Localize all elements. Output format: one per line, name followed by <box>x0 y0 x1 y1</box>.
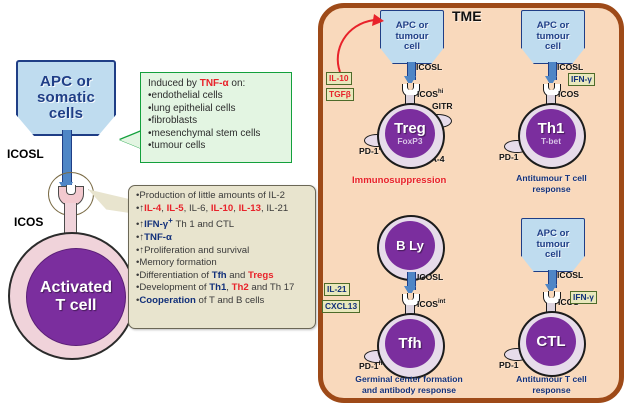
activated-tcell-nucleus: Activated T cell <box>26 248 126 346</box>
icosl-label-ctl: ICOSL <box>557 270 583 280</box>
tfh-caption: Germinal center formation and antibody r… <box>333 374 485 396</box>
tme-title: TME <box>452 8 482 24</box>
apc-tumour-label-ctl: APC or tumour cell <box>536 229 569 261</box>
bly-cell-name: B Ly <box>396 238 424 253</box>
diagram-root: APC or somatic cells ICOSL ICOS Activate… <box>0 0 628 408</box>
immunosuppression-label: Immunosuppression <box>352 175 446 186</box>
gitr-label: GITR <box>432 101 453 111</box>
beige-item-3: •↑TNF-α <box>136 232 310 245</box>
green-item-3: •mesenchymal stem cells <box>148 128 285 140</box>
apc-th1-line-2: tumour <box>536 31 569 42</box>
beige-callout-box: •Production of little amounts of IL-2 •↑… <box>128 185 316 329</box>
apc-treg-line-1: APC or <box>396 20 429 31</box>
apc-line-1: APC or <box>40 73 92 90</box>
treg-cell-sub: FoxP3 <box>397 137 422 146</box>
cytokine-tgfb: TGFβ <box>326 88 354 101</box>
ctl-caption: Antitumour T cell response <box>494 374 609 396</box>
icosl-label-tfh: ICOSL <box>417 272 443 282</box>
cytokine-il21: IL-21 <box>324 283 350 296</box>
icos-label-left: ICOS <box>14 215 43 229</box>
th1-cell-sub: T-bet <box>541 137 561 146</box>
green-item-2: •fibroblasts <box>148 115 285 127</box>
apc-ctl-line-3: cell <box>545 249 561 260</box>
activated-tcell-line-1: Activated <box>40 279 112 296</box>
icos-label-treg-text: ICOS <box>417 89 438 99</box>
beige-item-7: •Development of Th1, Th2 and Th 17 <box>136 282 310 295</box>
icos-label-treg-sup: hi <box>438 89 443 95</box>
ctl-caption-line-2: response <box>532 385 570 395</box>
tfh-caption-line-1: Germinal center formation <box>355 374 462 384</box>
beige-callout-list: •Production of little amounts of IL-2 •↑… <box>129 186 315 308</box>
green-item-0: •endothelial cells <box>148 90 285 102</box>
icos-label-tfh-text: ICOS <box>417 299 438 309</box>
apc-tumour-label-treg: APC or tumour cell <box>395 21 428 53</box>
th1-cell-nucleus: Th1 T-bet <box>526 109 576 158</box>
apc-th1-line-3: cell <box>545 41 561 52</box>
icos-nub-slit-tfh <box>407 293 414 300</box>
tfh-cell-nucleus: Tfh <box>385 319 435 368</box>
pd1-label-ctl: PD-1 <box>499 360 519 370</box>
cytokine-ifng-ctl: IFN-γ <box>570 291 597 304</box>
beige-item-1: •↑IL-4, IL-5, IL-6, IL-10, IL-13, IL-21 <box>136 203 310 216</box>
pd1-label-tfh: PD-1hi <box>359 361 384 371</box>
icos-label-th1: ICOS <box>558 89 579 99</box>
green-callout-pointer <box>120 131 142 149</box>
icos-label-treg: ICOShi <box>417 89 443 99</box>
apc-ctl-line-1: APC or <box>537 228 570 239</box>
apc-somatic-cell-box: APC or somatic cells <box>16 60 116 136</box>
icos-nub-slit-treg <box>407 83 414 90</box>
ctl-cell-nucleus: CTL <box>526 317 576 366</box>
green-header-tnf: TNF-α <box>200 78 229 89</box>
pd1-label-treg-text: PD-1 <box>359 146 379 156</box>
icos-label-tfh-sup: int <box>438 299 445 305</box>
apc-tumour-box-ctl: APC or tumour cell <box>521 218 585 272</box>
beige-item-5: •Memory formation <box>136 257 310 270</box>
cytokine-ifng-th1: IFN-γ <box>568 73 595 86</box>
apc-th1-line-1: APC or <box>537 20 570 31</box>
il10-feedback-arrow <box>326 10 396 80</box>
pd1-label-th1: PD-1 <box>499 152 519 162</box>
th1-cell-name: Th1 <box>538 121 565 136</box>
icos-nub-slit-th1 <box>548 83 555 90</box>
beige-item-2: •↑IFN-γ+ Th 1 and CTL <box>136 215 310 232</box>
green-item-4: •tumour cells <box>148 140 285 152</box>
treg-cell-name: Treg <box>394 121 426 136</box>
ctl-caption-line-1: Antitumour T cell <box>516 374 587 384</box>
apc-line-2: somatic <box>37 89 95 106</box>
pd1-label-tfh-text: PD-1 <box>359 361 379 371</box>
beige-item-8: •Cooperation of T and B cells <box>136 295 310 308</box>
tfh-cell-name: Tfh <box>398 336 421 351</box>
bly-cell-nucleus: B Ly <box>385 221 435 270</box>
ctl-cell-name: CTL <box>536 334 565 349</box>
icosl-label-th1: ICOSL <box>557 62 583 72</box>
apc-treg-line-3: cell <box>404 41 420 52</box>
apc-ctl-line-2: tumour <box>536 239 569 250</box>
apc-treg-line-2: tumour <box>395 31 428 42</box>
icosl-label-treg: ICOSL <box>416 62 442 72</box>
green-callout-header: Induced by TNF-α on: <box>148 78 285 90</box>
green-header-pre: Induced by <box>148 78 200 89</box>
icos-receptor-notch <box>66 185 76 195</box>
cytokine-il10: IL-10 <box>326 72 352 85</box>
icos-label-tfh: ICOSint <box>417 299 445 309</box>
beige-item-4: •↑Proliferation and survival <box>136 245 310 258</box>
tfh-caption-line-2: and antibody response <box>362 385 456 395</box>
green-item-1: •lung epithelial cells <box>148 103 285 115</box>
beige-item-6: •Differentiation of Tfh and Tregs <box>136 270 310 283</box>
icosl-label-left: ICOSL <box>7 147 44 161</box>
beige-item-0: •Production of little amounts of IL-2 <box>136 190 310 203</box>
cytokine-cxcl13: CXCL13 <box>322 300 360 313</box>
apc-line-3: cells <box>49 105 83 122</box>
apc-tumour-box-th1: APC or tumour cell <box>521 10 585 64</box>
th1-caption: Antitumour T cell response <box>494 173 609 195</box>
green-callout-box: Induced by TNF-α on: •endothelial cells … <box>140 72 292 163</box>
th1-caption-line-2: response <box>532 184 570 194</box>
th1-caption-line-1: Antitumour T cell <box>516 173 587 183</box>
apc-tumour-label-th1: APC or tumour cell <box>536 21 569 53</box>
icos-nub-slit-ctl <box>548 291 555 298</box>
treg-cell-nucleus: Treg FoxP3 <box>385 109 435 158</box>
activated-tcell-label: Activated T cell <box>40 279 112 315</box>
green-header-post: on: <box>229 78 246 89</box>
activated-tcell-line-2: T cell <box>56 297 97 314</box>
apc-somatic-cell-label: APC or somatic cells <box>37 74 95 122</box>
